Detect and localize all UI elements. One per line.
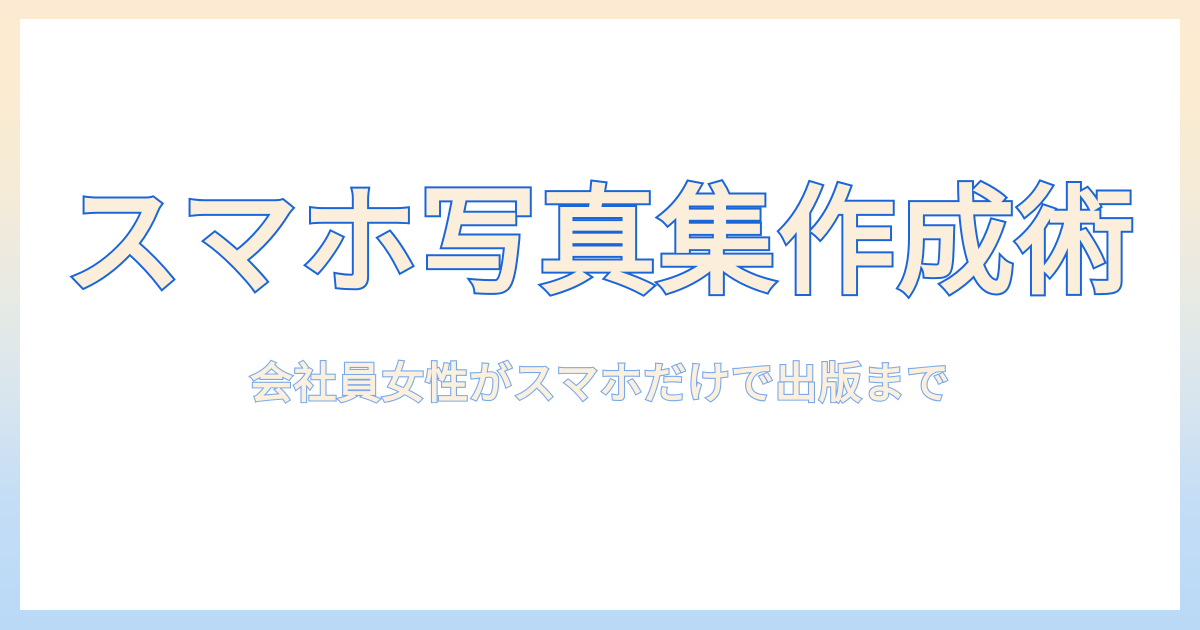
content-card: スマホ写真集作成術 会社員女性がスマホだけで出版まで — [20, 19, 1180, 610]
eyecatch-banner: スマホ写真集作成術 会社員女性がスマホだけで出版まで — [0, 0, 1200, 630]
title-container: スマホ写真集作成術 — [50, 167, 1150, 317]
page-title: スマホ写真集作成術 — [64, 183, 1135, 301]
content-card-inner: スマホ写真集作成術 会社員女性がスマホだけで出版まで — [20, 167, 1180, 406]
page-subtitle: 会社員女性がスマホだけで出版まで — [250, 363, 950, 406]
subtitle-container: 会社員女性がスマホだけで出版まで — [250, 363, 950, 406]
